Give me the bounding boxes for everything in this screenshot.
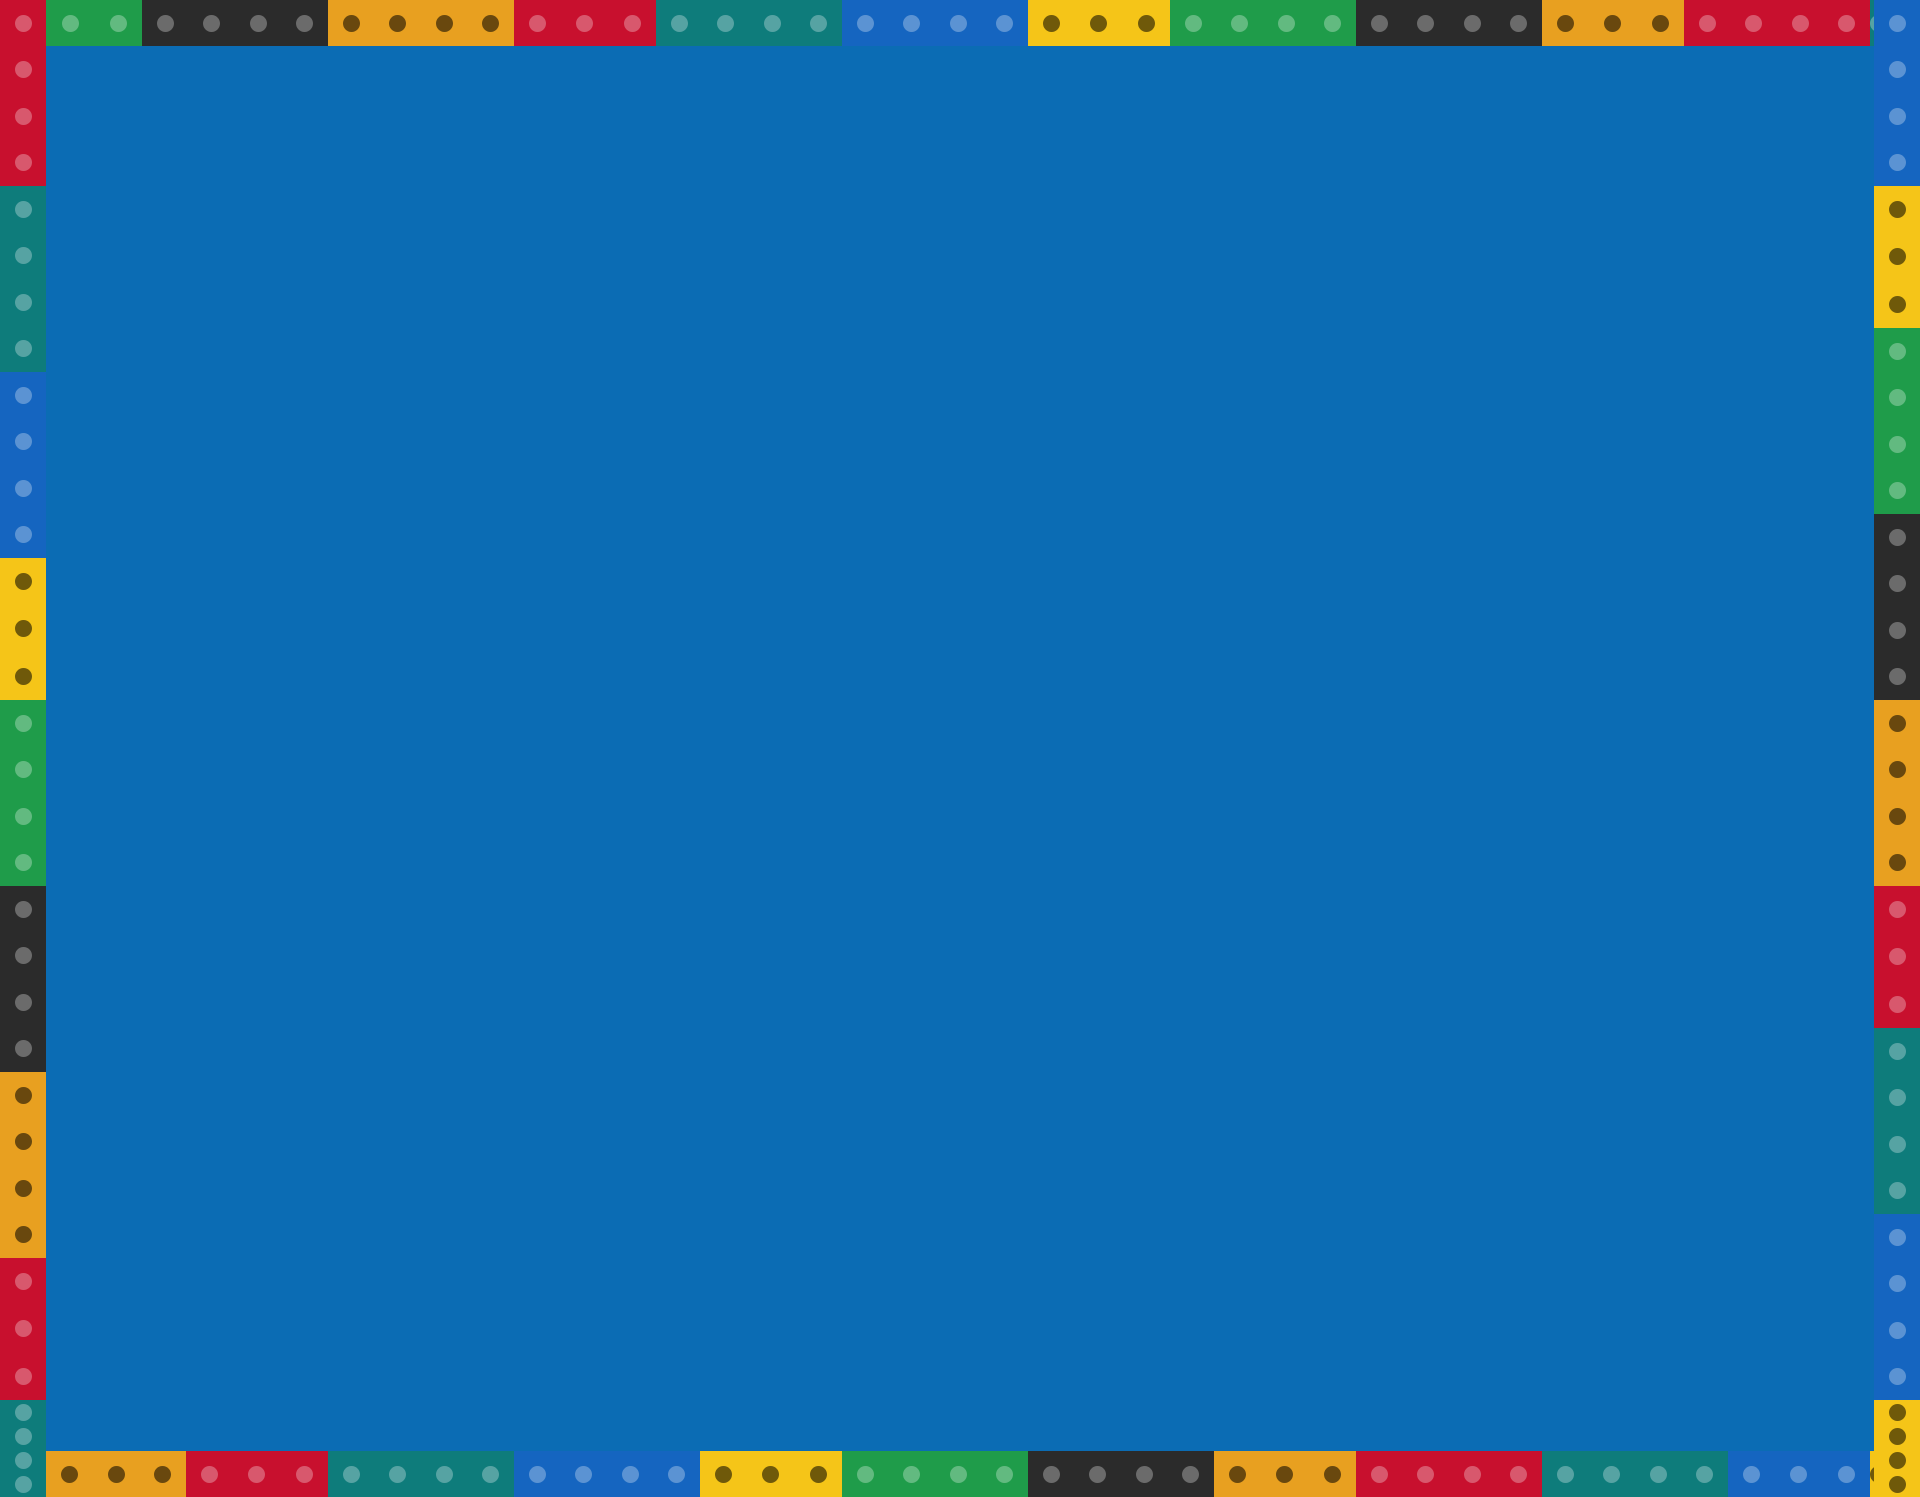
lego-stud bbox=[1278, 15, 1295, 32]
lego-brick bbox=[186, 1451, 328, 1497]
lego-brick bbox=[328, 1451, 514, 1497]
lego-stud bbox=[15, 387, 32, 404]
lego-stud bbox=[1870, 1466, 1887, 1483]
lego-stud bbox=[529, 1466, 546, 1483]
lego-brick bbox=[0, 0, 142, 46]
lego-stud bbox=[1650, 1466, 1667, 1483]
lego-stud bbox=[1904, 15, 1920, 32]
lego-brick bbox=[1542, 1451, 1728, 1497]
lego-stud bbox=[296, 15, 313, 32]
lego-stud bbox=[436, 15, 453, 32]
lego-stud bbox=[1043, 15, 1060, 32]
lego-stud bbox=[15, 1040, 32, 1057]
lego-stud bbox=[1138, 15, 1155, 32]
lego-stud bbox=[15, 247, 32, 264]
lego-stud bbox=[1889, 622, 1906, 639]
lego-brick bbox=[656, 0, 842, 46]
lego-stud bbox=[857, 15, 874, 32]
lego-stud bbox=[15, 433, 32, 450]
lego-stud bbox=[1889, 1043, 1906, 1060]
lego-stud bbox=[1043, 1466, 1060, 1483]
lego-stud bbox=[903, 15, 920, 32]
lego-stud bbox=[1838, 1466, 1855, 1483]
lego-stud bbox=[15, 15, 32, 32]
lego-stud bbox=[436, 1466, 453, 1483]
lego-stud bbox=[1371, 1466, 1388, 1483]
lego-stud bbox=[1889, 1452, 1906, 1469]
lego-brick bbox=[0, 700, 46, 886]
lego-stud bbox=[1231, 15, 1248, 32]
lego-brick bbox=[700, 1451, 842, 1497]
lego-stud bbox=[1790, 1466, 1807, 1483]
lego-stud bbox=[1889, 389, 1906, 406]
lego-stud bbox=[61, 1466, 78, 1483]
lego-stud bbox=[1603, 1466, 1620, 1483]
lego-stud bbox=[1182, 1466, 1199, 1483]
lego-stud bbox=[1889, 1089, 1906, 1106]
lego-stud bbox=[250, 15, 267, 32]
lego-stud bbox=[1089, 1466, 1106, 1483]
lego-brick bbox=[842, 1451, 1028, 1497]
lego-stud bbox=[296, 1466, 313, 1483]
lego-stud bbox=[622, 1466, 639, 1483]
lego-stud bbox=[671, 15, 688, 32]
lego-brick bbox=[1356, 1451, 1542, 1497]
lego-stud bbox=[1699, 15, 1716, 32]
lego-stud bbox=[1889, 482, 1906, 499]
lego-stud bbox=[1889, 1322, 1906, 1339]
lego-stud bbox=[1889, 1182, 1906, 1199]
lego-stud bbox=[343, 1466, 360, 1483]
lego-stud bbox=[1887, 15, 1904, 32]
lego-stud bbox=[1889, 761, 1906, 778]
lego-stud bbox=[15, 15, 32, 32]
lego-stud bbox=[15, 340, 32, 357]
lego-stud bbox=[1889, 996, 1906, 1013]
lego-stud bbox=[950, 1466, 967, 1483]
lego-stud bbox=[1889, 1368, 1906, 1385]
lego-stud bbox=[1229, 1466, 1246, 1483]
lego-stud bbox=[203, 15, 220, 32]
lego-stud bbox=[903, 1466, 920, 1483]
lego-stud bbox=[110, 15, 127, 32]
lego-brick bbox=[0, 886, 46, 1072]
lego-stud bbox=[1889, 529, 1906, 546]
lego-stud bbox=[1870, 15, 1887, 32]
lego-stud bbox=[15, 715, 32, 732]
lego-border-bottom bbox=[0, 1451, 1920, 1497]
lego-stud bbox=[1792, 15, 1809, 32]
lego-stud bbox=[1889, 343, 1906, 360]
lego-stud bbox=[15, 1428, 32, 1445]
lego-stud bbox=[1652, 15, 1669, 32]
lego-stud bbox=[950, 15, 967, 32]
lego-brick bbox=[1028, 0, 1170, 46]
lego-stud bbox=[1889, 1136, 1906, 1153]
lego-brick bbox=[142, 0, 328, 46]
lego-stud bbox=[715, 1466, 732, 1483]
lego-brick bbox=[1356, 0, 1542, 46]
lego-border-top bbox=[0, 0, 1920, 46]
lego-stud bbox=[15, 526, 32, 543]
lego-brick bbox=[842, 0, 1028, 46]
lego-stud bbox=[15, 620, 32, 637]
lego-stud bbox=[1889, 668, 1906, 685]
lego-stud bbox=[1696, 1466, 1713, 1483]
lego-brick bbox=[0, 1258, 46, 1400]
lego-stud bbox=[482, 15, 499, 32]
lego-brick bbox=[1874, 1400, 1920, 1497]
lego-stud bbox=[15, 1466, 32, 1483]
lego-stud bbox=[857, 1466, 874, 1483]
lego-brick bbox=[1874, 700, 1920, 886]
lego-stud bbox=[996, 1466, 1013, 1483]
lego-stud bbox=[1889, 1404, 1906, 1421]
lego-stud bbox=[15, 668, 32, 685]
poster-canvas bbox=[46, 46, 1874, 1451]
lego-stud bbox=[15, 294, 32, 311]
lego-brick bbox=[0, 1451, 186, 1497]
lego-brick bbox=[0, 1400, 46, 1497]
lego-brick bbox=[514, 1451, 700, 1497]
lego-stud bbox=[1889, 1229, 1906, 1246]
lego-stud bbox=[1889, 15, 1906, 32]
lego-stud bbox=[529, 15, 546, 32]
lego-stud bbox=[1887, 1466, 1904, 1483]
lego-stud bbox=[108, 1466, 125, 1483]
lego-stud bbox=[15, 1368, 32, 1385]
lego-brick bbox=[1028, 1451, 1214, 1497]
lego-stud bbox=[762, 1466, 779, 1483]
lego-stud bbox=[15, 901, 32, 918]
lego-stud bbox=[1417, 15, 1434, 32]
lego-stud bbox=[1743, 1466, 1760, 1483]
lego-brick bbox=[1170, 0, 1356, 46]
lego-stud bbox=[15, 1452, 32, 1469]
lego-stud bbox=[1889, 1476, 1906, 1493]
lego-brick bbox=[1874, 328, 1920, 514]
lego-stud bbox=[1889, 436, 1906, 453]
lego-brick bbox=[1728, 1451, 1870, 1497]
lego-stud bbox=[15, 994, 32, 1011]
lego-stud bbox=[389, 15, 406, 32]
lego-stud bbox=[1371, 15, 1388, 32]
lego-brick bbox=[1874, 886, 1920, 1028]
lego-stud bbox=[1185, 15, 1202, 32]
lego-stud bbox=[1510, 1466, 1527, 1483]
lego-stud bbox=[1889, 715, 1906, 732]
lego-stud bbox=[482, 1466, 499, 1483]
lego-stud bbox=[1324, 15, 1341, 32]
lego-stud bbox=[1510, 15, 1527, 32]
lego-stud bbox=[717, 15, 734, 32]
lego-stud bbox=[1889, 248, 1906, 265]
lego-stud bbox=[1889, 1428, 1906, 1445]
lego-brick bbox=[0, 558, 46, 700]
lego-stud bbox=[1276, 1466, 1293, 1483]
lego-stud bbox=[1464, 15, 1481, 32]
lego-brick bbox=[1870, 1451, 1920, 1497]
lego-stud bbox=[1889, 575, 1906, 592]
lego-stud bbox=[15, 947, 32, 964]
lego-brick bbox=[1870, 0, 1920, 46]
lego-stud bbox=[1090, 15, 1107, 32]
lego-stud bbox=[575, 1466, 592, 1483]
lego-stud bbox=[15, 1226, 32, 1243]
lego-stud bbox=[624, 15, 641, 32]
lego-stud bbox=[15, 1320, 32, 1337]
lego-brick bbox=[1874, 1028, 1920, 1214]
lego-stud bbox=[15, 1180, 32, 1197]
lego-stud bbox=[248, 1466, 265, 1483]
lego-stud bbox=[15, 1404, 32, 1421]
lego-stud bbox=[1904, 1466, 1920, 1483]
lego-brick bbox=[0, 1072, 46, 1258]
lego-stud bbox=[15, 761, 32, 778]
lego-stud bbox=[1557, 15, 1574, 32]
lego-stud bbox=[15, 1087, 32, 1104]
lego-stud bbox=[1889, 854, 1906, 871]
lego-stud bbox=[201, 1466, 218, 1483]
lego-stud bbox=[15, 1133, 32, 1150]
lego-stud bbox=[576, 15, 593, 32]
lego-stud bbox=[1745, 15, 1762, 32]
lego-stud bbox=[764, 15, 781, 32]
lego-brick bbox=[514, 0, 656, 46]
lego-stud bbox=[389, 1466, 406, 1483]
lego-stud bbox=[1464, 1466, 1481, 1483]
lego-brick bbox=[1684, 0, 1870, 46]
lego-brick bbox=[1214, 1451, 1356, 1497]
lego-stud bbox=[810, 1466, 827, 1483]
lego-stud bbox=[154, 1466, 171, 1483]
lego-stud bbox=[996, 15, 1013, 32]
lego-stud bbox=[15, 1273, 32, 1290]
lego-stud bbox=[1889, 296, 1906, 313]
lego-stud bbox=[15, 854, 32, 871]
lego-stud bbox=[1604, 15, 1621, 32]
lego-stud bbox=[1889, 901, 1906, 918]
lego-stud bbox=[1889, 948, 1906, 965]
lego-stud bbox=[1324, 1466, 1341, 1483]
lego-stud bbox=[15, 1476, 32, 1493]
lego-stud bbox=[1838, 15, 1855, 32]
lego-stud bbox=[1889, 1275, 1906, 1292]
lego-stud bbox=[668, 1466, 685, 1483]
lego-stud bbox=[810, 15, 827, 32]
lego-stud bbox=[15, 573, 32, 590]
lego-stud bbox=[1417, 1466, 1434, 1483]
lego-stud bbox=[343, 15, 360, 32]
lego-brick bbox=[1542, 0, 1684, 46]
lego-stud bbox=[1557, 1466, 1574, 1483]
lego-brick bbox=[1874, 1214, 1920, 1400]
lego-stud bbox=[62, 15, 79, 32]
lego-stud bbox=[15, 808, 32, 825]
lego-brick bbox=[328, 0, 514, 46]
lego-stud bbox=[1889, 808, 1906, 825]
lego-stud bbox=[157, 15, 174, 32]
lego-brick bbox=[0, 372, 46, 558]
lego-stud bbox=[15, 480, 32, 497]
lego-stud bbox=[1136, 1466, 1153, 1483]
lego-brick bbox=[1874, 514, 1920, 700]
